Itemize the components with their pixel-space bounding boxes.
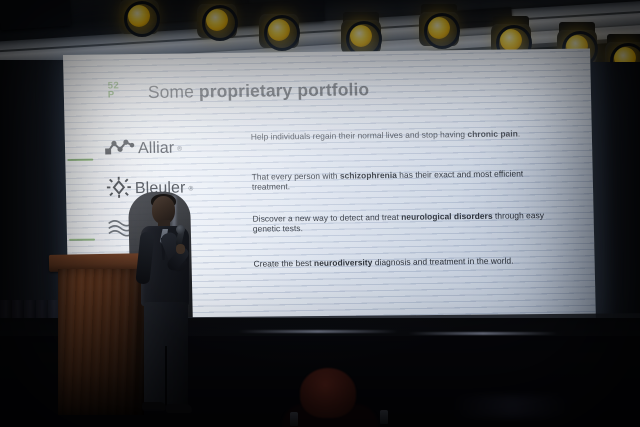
rear-glow-right: [452, 396, 572, 418]
desc-text: Create the best: [253, 258, 314, 269]
floor-light-strip-2: [408, 332, 558, 335]
light-bezel: [264, 15, 300, 51]
desc-text: .: [518, 128, 521, 138]
registered-mark: ®: [188, 185, 193, 192]
bottle-2: [380, 410, 388, 424]
floor-light-strip-1: [238, 330, 398, 333]
desc-text: diagnosis and treatment in the world.: [372, 256, 513, 268]
slide-title: Some proprietary portfolio: [148, 79, 370, 103]
diamond-burst-icon: [106, 176, 132, 198]
logo-line-2: P: [108, 90, 120, 99]
zigzag-nodes-icon: [105, 139, 135, 155]
slide-title-bold: proprietary portfolio: [199, 79, 370, 101]
presenter-hand: [176, 244, 185, 254]
presenter-leg-gap: [165, 346, 167, 406]
light-bezel: [124, 1, 160, 37]
presenter-shoe-left: [142, 402, 166, 411]
desc-emphasis: chronic pain: [467, 128, 518, 139]
desc-emphasis: neurodiversity: [314, 257, 373, 268]
registered-mark: ®: [177, 145, 182, 152]
stage-light-5: [418, 4, 460, 52]
portfolio-description: That every person with schizophrenia has…: [252, 168, 564, 193]
logo-underline-accent: [67, 159, 93, 161]
stage-light-3: [258, 6, 300, 54]
desc-emphasis: schizophrenia: [340, 170, 397, 181]
portfolio-description: Create the best neurodiversity diagnosis…: [253, 255, 565, 269]
portfolio-row: Alliar®Help individuals regain their nor…: [105, 127, 555, 132]
stage-light-1: [118, 0, 160, 40]
portfolio-row: Bleuler®That every person with schizophr…: [106, 167, 556, 172]
brand-name: Alliar: [138, 140, 175, 158]
ceiling-panel-1: [0, 0, 71, 30]
logo-underline-accent-3: [69, 239, 95, 241]
bottle-1: [290, 412, 298, 426]
brand-cell: Alliar®: [105, 131, 246, 167]
audience-member-silhouette: [300, 368, 356, 418]
desc-emphasis: neurological disorders: [401, 211, 493, 222]
slide-title-plain: Some: [148, 81, 200, 102]
stage-photo: 52 P Some proprietary portfolio Alliar®H…: [0, 0, 640, 427]
company-logo-52p: 52 P: [108, 81, 120, 99]
stage-light-2: [196, 0, 238, 44]
desc-text: Help individuals regain their normal liv…: [251, 129, 468, 142]
desc-text: Discover a new way to detect and treat: [253, 212, 402, 224]
zigzag-nodes-icon: [105, 139, 135, 160]
light-bezel: [424, 13, 460, 49]
portfolio-description: Discover a new way to detect and treat n…: [253, 210, 565, 235]
microphone-head: [176, 225, 185, 234]
desc-text: That every person with: [252, 171, 340, 182]
portfolio-description: Help individuals regain their normal liv…: [251, 128, 563, 142]
presenter: [128, 196, 212, 424]
light-bezel: [202, 5, 238, 41]
presenter-shoe-right: [166, 404, 192, 413]
